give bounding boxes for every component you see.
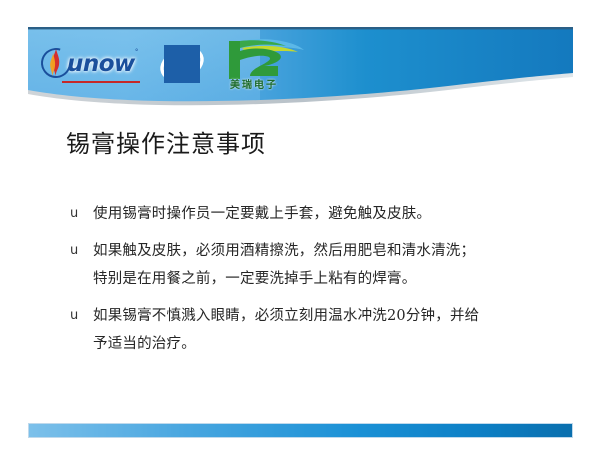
- list-item-text: 使用锡膏时操作员一定要戴上手套，避免触及皮肤。: [93, 200, 566, 228]
- bullet-marker-icon: u: [66, 237, 93, 265]
- text-line: 予适当的治疗。: [93, 330, 566, 358]
- meirui-chinese-name: 美瑞电子: [230, 76, 278, 91]
- bullet-marker-icon: u: [66, 200, 93, 228]
- page-title: 锡膏操作注意事项: [66, 124, 266, 159]
- list-item: u 如果锡膏不慎溅入眼睛，必须立刻用温水冲洗20分钟，并给 予适当的治疗。: [66, 302, 566, 358]
- unow-logo: unow °: [40, 40, 148, 88]
- logo-group: unow ° NB: [40, 34, 308, 94]
- text-line: 使用锡膏时操作员一定要戴上手套，避免触及皮肤。: [93, 200, 566, 228]
- unow-registered-icon: °: [135, 48, 139, 56]
- text-line: 如果触及皮肤，必须用酒精擦洗，然后用肥皂和清水清洗；: [93, 237, 566, 265]
- list-item: u 如果触及皮肤，必须用酒精擦洗，然后用肥皂和清水清洗； 特别是在用餐之前，一定…: [66, 237, 566, 293]
- footer-accent-bar: [28, 423, 573, 438]
- nb-square-backdrop: [164, 45, 200, 83]
- list-item: u 使用锡膏时操作员一定要戴上手套，避免触及皮肤。: [66, 200, 566, 228]
- list-item-text: 如果触及皮肤，必须用酒精擦洗，然后用肥皂和清水清洗； 特别是在用餐之前，一定要洗…: [93, 237, 566, 293]
- text-line: 特别是在用餐之前，一定要洗掉手上粘有的焊膏。: [93, 265, 566, 293]
- slide-canvas: unow ° NB: [0, 0, 600, 463]
- bullet-list: u 使用锡膏时操作员一定要戴上手套，避免触及皮肤。 u 如果触及皮肤，必须用酒精…: [66, 200, 566, 367]
- list-item-text: 如果锡膏不慎溅入眼睛，必须立刻用温水冲洗20分钟，并给 予适当的治疗。: [93, 302, 566, 358]
- nb-logo: NB: [158, 42, 206, 86]
- unow-wordmark: unow: [67, 53, 135, 76]
- meirui-logo: 美瑞电子: [216, 38, 308, 90]
- header-banner: unow ° NB: [28, 27, 573, 107]
- unow-underline: [62, 81, 140, 83]
- unow-flame-icon: [40, 47, 74, 81]
- bullet-marker-icon: u: [66, 302, 93, 330]
- text-line: 如果锡膏不慎溅入眼睛，必须立刻用温水冲洗20分钟，并给: [93, 302, 566, 330]
